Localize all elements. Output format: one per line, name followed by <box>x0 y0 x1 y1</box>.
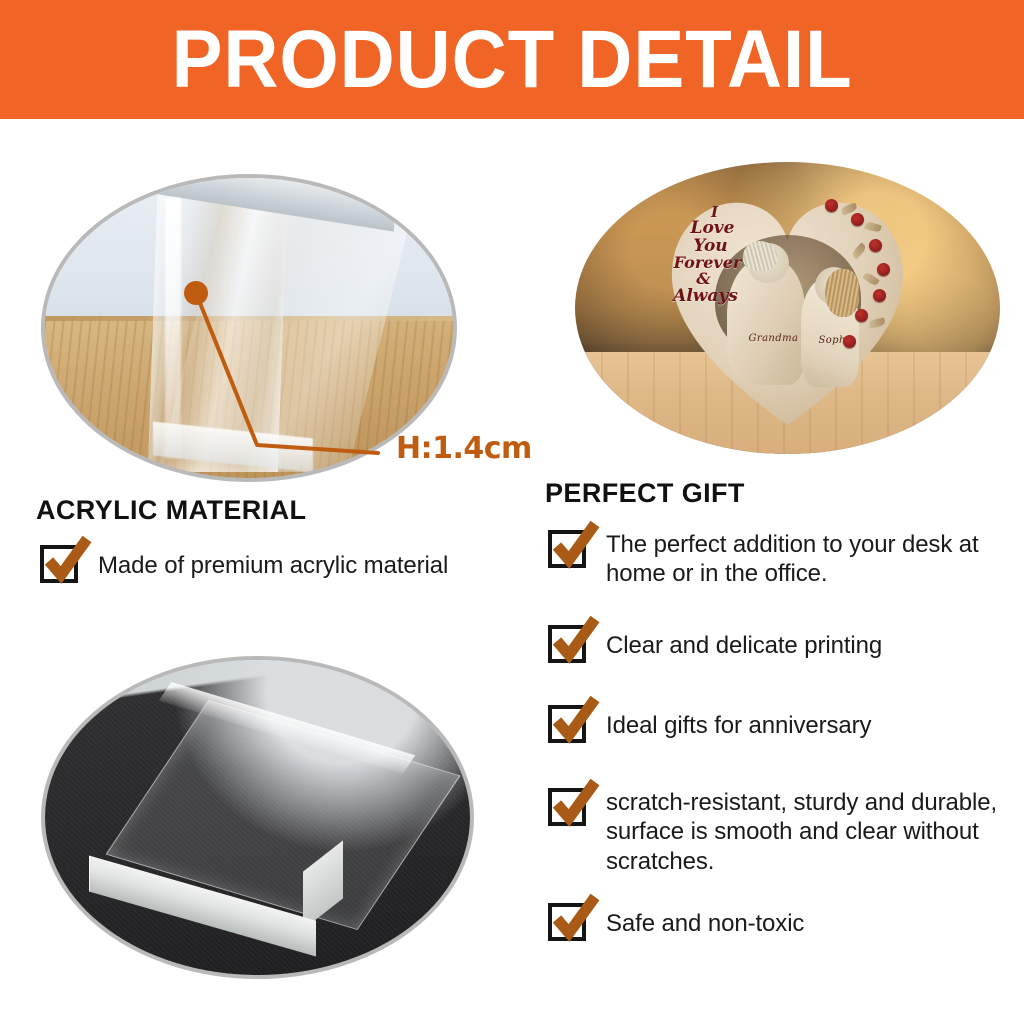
list-item: The perfect addition to your desk at hom… <box>548 530 988 589</box>
checkbox-checked-icon[interactable] <box>548 625 586 663</box>
flower-icon <box>877 263 890 276</box>
checkmark-icon <box>549 520 601 572</box>
section-heading-perfect-gift: PERFECT GIFT <box>545 478 745 509</box>
list-item-label: The perfect addition to your desk at hom… <box>606 530 988 589</box>
list-item-label: scratch-resistant, sturdy and durable, s… <box>606 788 998 876</box>
page-header-banner: PRODUCT DETAIL <box>0 0 1024 119</box>
photo-acrylic-edge-on-wood <box>45 178 453 478</box>
floral-vine-decoration <box>807 197 899 361</box>
list-item: Ideal gifts for anniversary <box>548 705 871 743</box>
checkmark-icon <box>549 615 601 667</box>
acrylic-edge-highlight <box>165 198 181 458</box>
engraved-name-grandma: Grandma <box>749 333 799 344</box>
checkmark-icon <box>41 535 93 587</box>
flower-icon <box>855 309 868 322</box>
checkmark-icon <box>549 893 601 945</box>
checkmark-icon <box>549 695 601 747</box>
list-item: Clear and delicate printing <box>548 625 882 663</box>
checkbox-checked-icon[interactable] <box>548 903 586 941</box>
section-heading-acrylic-material: ACRYLIC MATERIAL <box>36 495 306 526</box>
photo-acrylic-block-on-slate <box>45 660 470 975</box>
checkmark-icon <box>549 778 601 830</box>
flower-icon <box>825 199 838 212</box>
heart-sculpture: I Love You Forever & Always Grandma Soph… <box>663 183 913 433</box>
checkbox-checked-icon[interactable] <box>548 530 586 568</box>
flower-icon <box>851 213 864 226</box>
flower-icon <box>873 289 886 302</box>
list-item-label: Ideal gifts for anniversary <box>606 711 871 740</box>
checkbox-checked-icon[interactable] <box>548 705 586 743</box>
checkbox-checked-icon[interactable] <box>548 788 586 826</box>
leaf-icon <box>868 317 885 328</box>
leaf-icon <box>862 271 880 287</box>
list-item: Made of premium acrylic material <box>40 545 448 583</box>
list-item-label: Made of premium acrylic material <box>98 551 448 580</box>
leaf-icon <box>864 221 882 234</box>
flower-icon <box>843 335 856 348</box>
page-title: PRODUCT DETAIL <box>172 19 853 101</box>
flower-icon <box>869 239 882 252</box>
list-item: Safe and non-toxic <box>548 903 804 941</box>
script-line-6: Always <box>673 288 738 305</box>
checkbox-checked-icon[interactable] <box>40 545 78 583</box>
dimension-label: H:1.4cm <box>396 431 532 466</box>
leaf-icon <box>850 242 867 259</box>
list-item: scratch-resistant, sturdy and durable, s… <box>548 788 998 876</box>
dimension-callout-dot <box>184 281 208 305</box>
list-item-label: Clear and delicate printing <box>606 631 882 660</box>
photo-heart-keepsake: I Love You Forever & Always Grandma Soph… <box>575 162 1000 454</box>
list-item-label: Safe and non-toxic <box>606 909 804 938</box>
engraved-script-text: I Love You Forever & Always <box>673 205 751 305</box>
